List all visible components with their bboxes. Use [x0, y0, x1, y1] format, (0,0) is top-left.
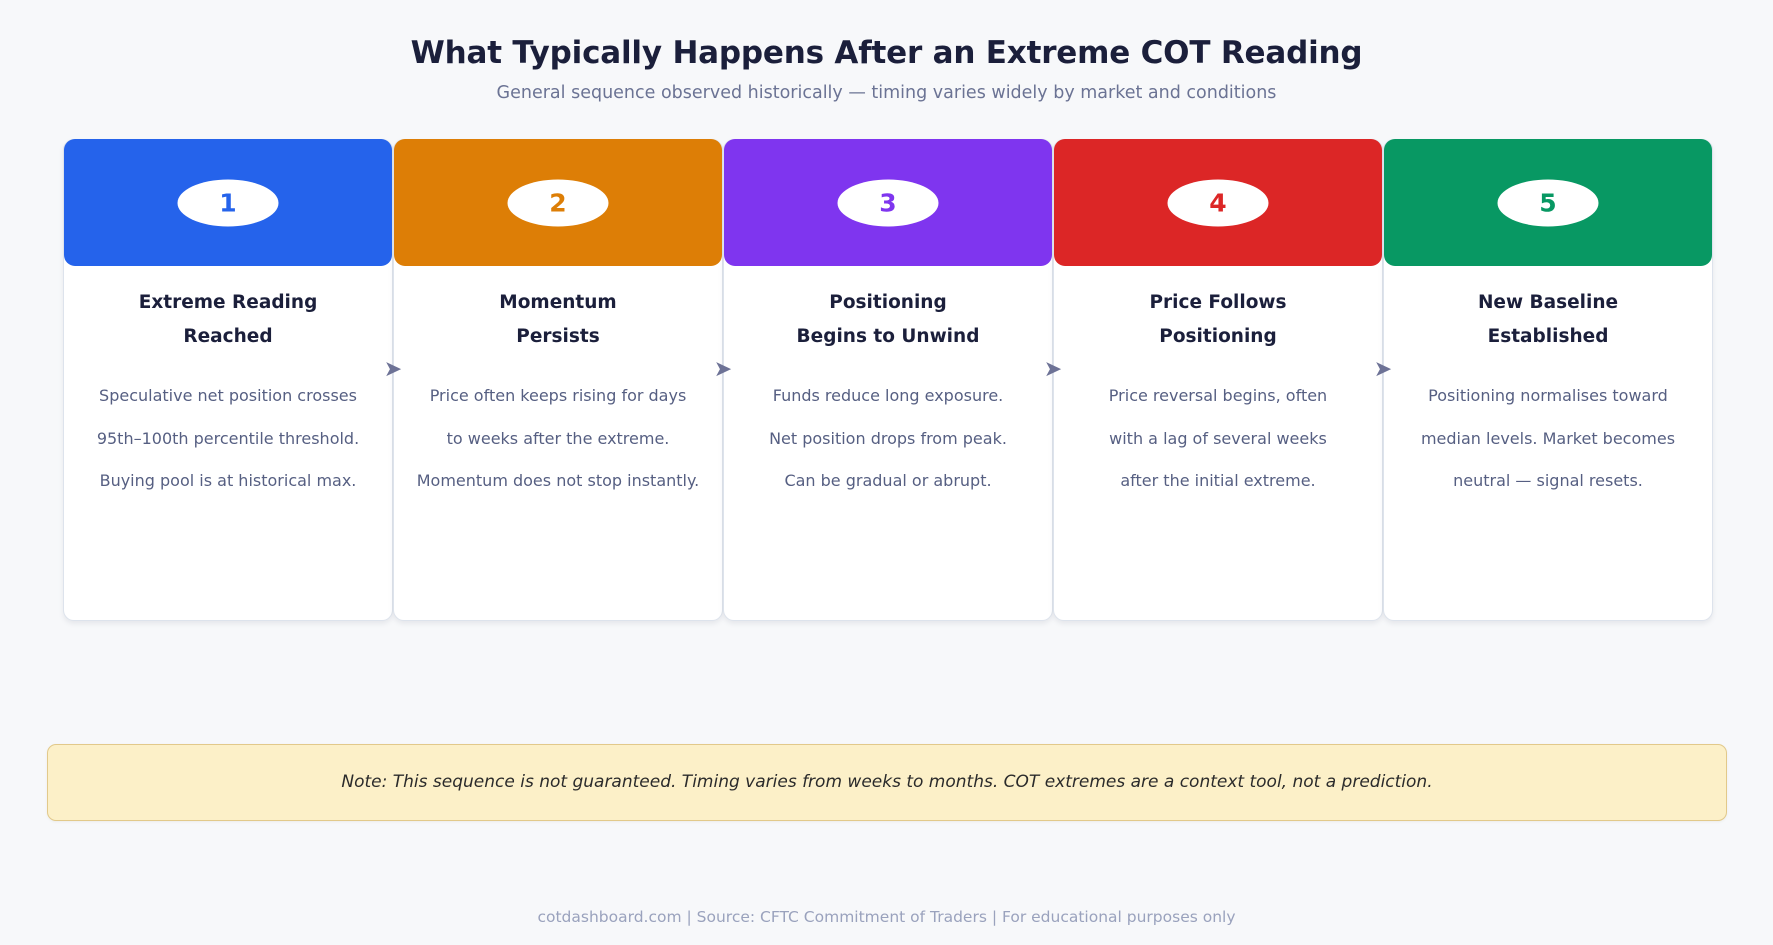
- flow-step-description-line: Can be gradual or abrupt.: [737, 460, 1039, 502]
- flow-step-title-line: Reached: [77, 320, 379, 354]
- flow-step-title-line: Begins to Unwind: [737, 320, 1039, 354]
- flow-step-description-line: Price reversal begins, often: [1067, 375, 1369, 417]
- page-title: What Typically Happens After an Extreme …: [0, 34, 1773, 73]
- flow-step-description-line: to weeks after the extreme.: [407, 418, 709, 460]
- flow-step-description-line: median levels. Market becomes: [1397, 418, 1699, 460]
- flow-step-card[interactable]: 2MomentumPersistsPrice often keeps risin…: [393, 139, 723, 631]
- flow-step-card[interactable]: 5New BaselineEstablishedPositioning norm…: [1383, 139, 1713, 631]
- flow-step-header: 3: [724, 139, 1052, 266]
- flow-steps-container: 1Extreme ReadingReachedSpeculative net p…: [63, 139, 1713, 631]
- flow-step-description-line: Momentum does not stop instantly.: [407, 460, 709, 502]
- flow-step-title-line: Extreme Reading: [77, 286, 379, 320]
- flow-step-number-badge: 2: [508, 179, 609, 226]
- flow-step-card[interactable]: 1Extreme ReadingReachedSpeculative net p…: [63, 139, 393, 631]
- flow-step-description: Price often keeps rising for daysto week…: [407, 375, 709, 502]
- flow-step-title-line: Established: [1397, 320, 1699, 354]
- flow-step-content: Price FollowsPositioningPrice reversal b…: [1053, 266, 1383, 621]
- flow-step-description: Funds reduce long exposure.Net position …: [737, 375, 1039, 502]
- flow-step-card[interactable]: 4Price FollowsPositioningPrice reversal …: [1053, 139, 1383, 631]
- flow-step-number-badge: 4: [1168, 179, 1269, 226]
- flow-step-description-line: after the initial extreme.: [1067, 460, 1369, 502]
- footer: cotdashboard.com | Source: CFTC Commitme…: [0, 908, 1773, 926]
- flow-step-description-line: 95th–100th percentile threshold.: [77, 418, 379, 460]
- flow-step-title-line: New Baseline: [1397, 286, 1699, 320]
- flow-step-description: Price reversal begins, oftenwith a lag o…: [1067, 375, 1369, 502]
- flow-step-number-badge: 5: [1498, 179, 1599, 226]
- flow-step-content: Extreme ReadingReachedSpeculative net po…: [63, 266, 393, 621]
- flow-step-header: 1: [64, 139, 392, 266]
- flow-step-description-line: neutral — signal resets.: [1397, 460, 1699, 502]
- flow-step-content: PositioningBegins to UnwindFunds reduce …: [723, 266, 1053, 621]
- flow-step-title-line: Persists: [407, 320, 709, 354]
- title-block: What Typically Happens After an Extreme …: [0, 34, 1773, 105]
- flow-step-number-badge: 3: [838, 179, 939, 226]
- flow-step-header: 4: [1054, 139, 1382, 266]
- disclaimer-note-text: Note: This sequence is not guaranteed. T…: [341, 771, 1432, 795]
- flow-step-content: MomentumPersistsPrice often keeps rising…: [393, 266, 723, 621]
- page-subtitle: General sequence observed historically —…: [0, 82, 1773, 105]
- page-root: What Typically Happens After an Extreme …: [0, 0, 1773, 945]
- flow-step-description-line: Speculative net position crosses: [77, 375, 379, 417]
- flow-step-description-line: Positioning normalises toward: [1397, 375, 1699, 417]
- flow-step-number-badge: 1: [178, 179, 279, 226]
- flow-step-description: Positioning normalises towardmedian leve…: [1397, 375, 1699, 502]
- flow-step-description-line: Net position drops from peak.: [737, 418, 1039, 460]
- flow-step-description-line: Funds reduce long exposure.: [737, 375, 1039, 417]
- flow-step-content: New BaselineEstablishedPositioning norma…: [1383, 266, 1713, 621]
- flow-step-description-line: with a lag of several weeks: [1067, 418, 1369, 460]
- flow-step-title-line: Price Follows: [1067, 286, 1369, 320]
- flow-step-header: 2: [394, 139, 722, 266]
- flow-step-card[interactable]: 3PositioningBegins to UnwindFunds reduce…: [723, 139, 1053, 631]
- flow-step-header: 5: [1384, 139, 1712, 266]
- flow-step-description-line: Price often keeps rising for days: [407, 375, 709, 417]
- disclaimer-note-box: Note: This sequence is not guaranteed. T…: [47, 744, 1727, 821]
- flow-step-title-line: Momentum: [407, 286, 709, 320]
- flow-step-title-line: Positioning: [737, 286, 1039, 320]
- flow-step-description-line: Buying pool is at historical max.: [77, 460, 379, 502]
- flow-step-description: Speculative net position crosses95th–100…: [77, 375, 379, 502]
- flow-step-title-line: Positioning: [1067, 320, 1369, 354]
